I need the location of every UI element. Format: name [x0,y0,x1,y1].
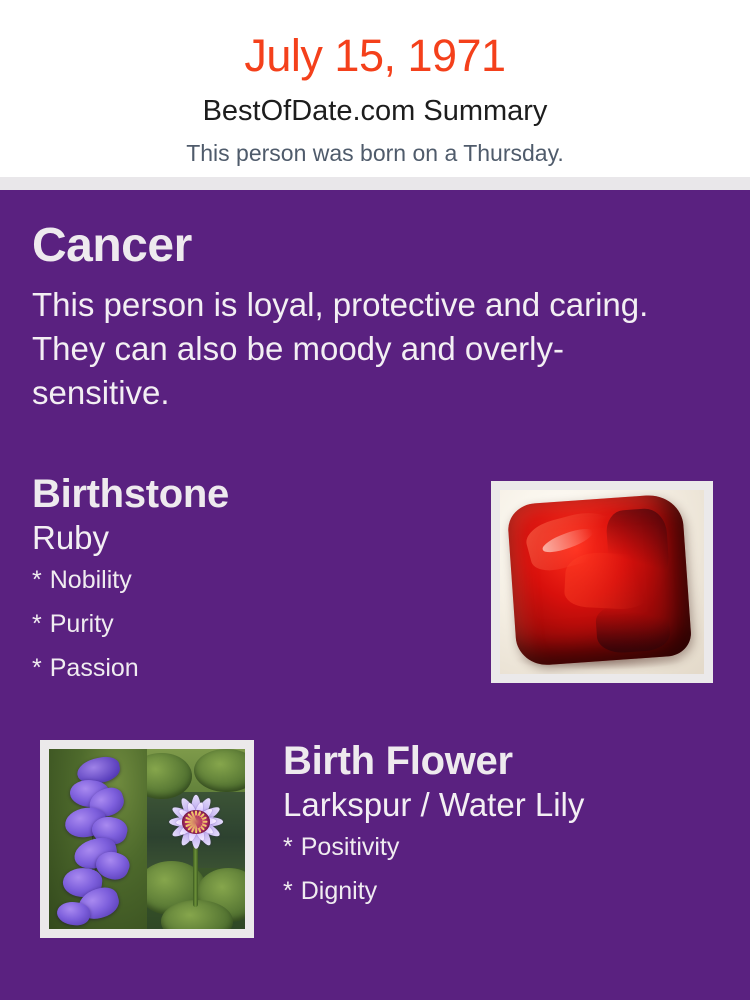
birth-flower-image [49,749,245,929]
flower-photo-pair [49,749,245,929]
asterisk-icon: * [283,877,301,905]
site-name-subtitle: BestOfDate.com Summary [0,78,750,126]
birth-flower-section: Birth Flower Larkspur / Water Lily *Posi… [283,740,723,923]
trait-label: Nobility [50,566,132,594]
birthday-summary-card: July 15, 1971 BestOfDate.com Summary Thi… [0,0,750,1000]
list-item: *Nobility [32,568,462,612]
asterisk-icon: * [32,610,50,638]
zodiac-sign-name: Cancer [32,220,692,272]
birthstone-image-frame [491,481,713,683]
asterisk-icon: * [32,566,50,594]
list-item: *Dignity [283,879,723,923]
birthstone-name: Ruby [32,515,462,557]
list-item: *Positivity [283,835,723,879]
trait-label: Positivity [301,833,400,861]
header-divider [0,177,750,190]
trait-label: Dignity [301,877,377,905]
birth-date-title: July 15, 1971 [0,0,750,78]
ruby-facet [606,507,670,582]
details-panel: Cancer This person is loyal, protective … [0,190,750,1000]
ruby-photo-background [500,490,704,674]
ruby-facet [595,601,672,655]
list-item: *Purity [32,612,462,656]
zodiac-description: This person is loyal, protective and car… [32,272,657,416]
trait-label: Purity [50,610,114,638]
asterisk-icon: * [283,833,301,861]
water-lily-photo [147,749,245,929]
larkspur-photo [49,749,147,929]
ruby-gemstone-image [500,490,704,674]
birth-flower-name: Larkspur / Water Lily [283,782,723,824]
birthstone-title: Birthstone [32,473,462,515]
day-of-week-note: This person was born on a Thursday. [0,126,750,165]
trait-label: Passion [50,654,139,682]
birthstone-trait-list: *Nobility *Purity *Passion [32,557,462,700]
card-header: July 15, 1971 BestOfDate.com Summary Thi… [0,0,750,177]
zodiac-section: Cancer This person is loyal, protective … [32,220,692,415]
birth-flower-trait-list: *Positivity *Dignity [283,824,723,923]
birth-flower-title: Birth Flower [283,740,723,782]
ruby-crystal-shape [507,493,693,667]
birthstone-section: Birthstone Ruby *Nobility *Purity *Passi… [32,473,462,700]
asterisk-icon: * [32,654,50,682]
birth-flower-image-frame [40,740,254,938]
list-item: *Passion [32,656,462,700]
water-lily-bloom [160,789,233,857]
